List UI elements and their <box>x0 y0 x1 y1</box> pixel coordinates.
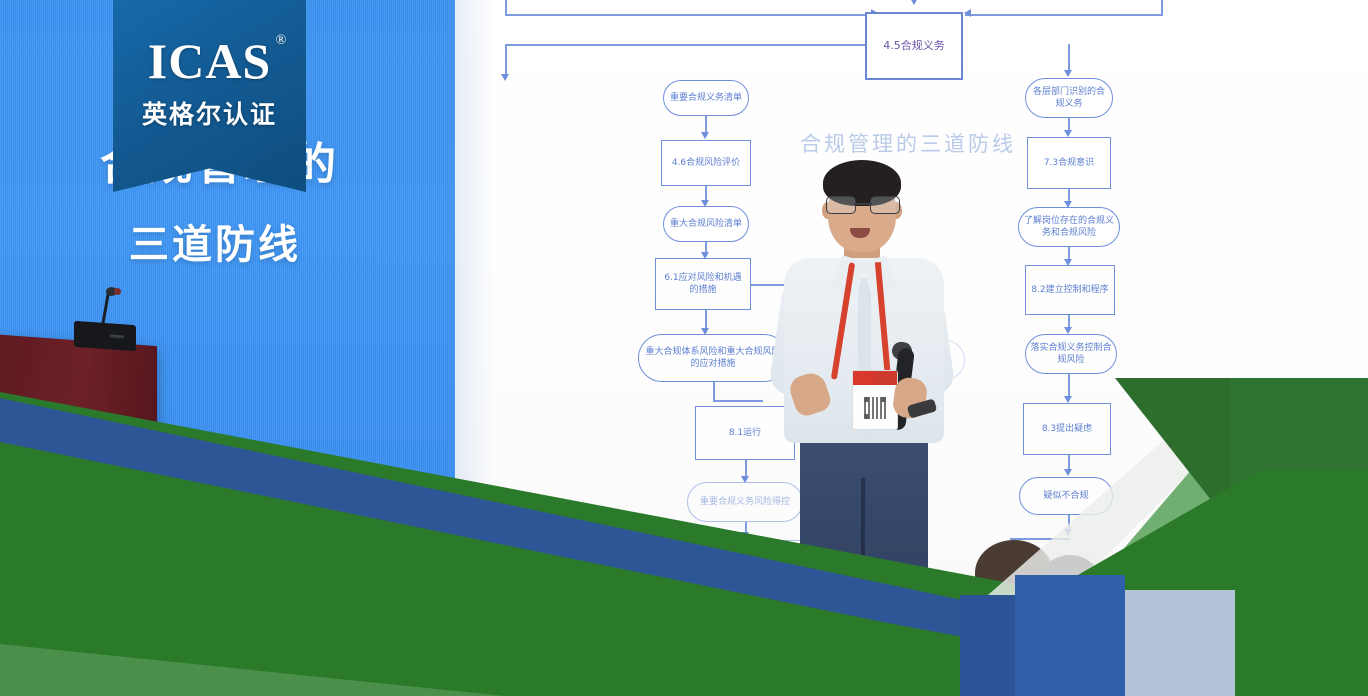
flow-node-8-3[interactable]: 8.3提出疑虑 <box>1023 403 1111 455</box>
flow-line <box>505 44 507 78</box>
flow-node-department-obligations[interactable]: 各层部门识别的合规义务 <box>1025 78 1113 118</box>
icas-wordmark: ICAS ® <box>148 36 271 86</box>
overlay-grey-bottom-right <box>1125 590 1235 696</box>
flow-node-6-1[interactable]: 6.1应对风险和机遇的措施 <box>655 258 751 310</box>
flow-node-post-obligations[interactable]: 了解岗位存在的合规义务和合规风险 <box>1018 207 1120 247</box>
flow-line <box>505 44 865 46</box>
flow-node-important-obligation-list[interactable]: 重要合规义务清单 <box>663 80 749 116</box>
flow-arrow-down-icon <box>910 0 918 5</box>
speaker-badge <box>852 370 898 430</box>
podium-microphone-base <box>74 321 136 351</box>
eyeglasses-icon <box>826 196 900 212</box>
flow-line <box>505 14 877 16</box>
flow-arrow-left-icon <box>964 9 971 17</box>
flow-line <box>1161 0 1163 16</box>
screenshot-stage: 合规管理的 三道防线 ICAS ® 英格尔认证 合规管理的三道防线 4.5合规义… <box>0 0 1368 696</box>
flow-line <box>713 400 763 402</box>
flow-arrow-down-icon <box>1064 70 1072 77</box>
flow-node-8-2[interactable]: 8.2建立控制和程序 <box>1025 265 1115 315</box>
flow-node-4-6[interactable]: 4.6合规风险评价 <box>661 140 751 186</box>
badge-header-strip <box>853 371 897 385</box>
podium-microphone-tip-icon <box>114 288 121 295</box>
flow-line <box>713 382 715 400</box>
flow-node-major-measures[interactable]: 重大合规体系风险和重大合规风险的应对措施 <box>638 334 788 382</box>
flow-line <box>965 14 1161 16</box>
icas-logo-banner: ICAS ® 英格尔认证 <box>113 0 306 192</box>
flow-line <box>505 0 507 16</box>
flow-arrow-down-icon <box>1064 469 1072 476</box>
flow-arrow-down-icon <box>1064 327 1072 334</box>
flow-arrow-down-icon <box>501 74 509 81</box>
flow-arrow-down-icon <box>1064 396 1072 403</box>
flow-node-4-5[interactable]: 4.5合规义务 <box>865 12 963 80</box>
qr-code-icon <box>864 397 886 419</box>
icas-chinese-name: 英格尔认证 <box>142 95 277 131</box>
flow-node-major-risk-list[interactable]: 重大合规风险清单 <box>663 206 749 242</box>
flow-node-implement-control[interactable]: 落实合规义务控制合规风险 <box>1025 334 1117 374</box>
slide-title-line2: 三道防线 <box>129 212 301 270</box>
registered-trademark-icon: ® <box>276 34 288 48</box>
icas-wordmark-text: ICAS <box>148 33 271 89</box>
flow-arrow-down-icon <box>1064 130 1072 137</box>
flow-node-7-3[interactable]: 7.3合规意识 <box>1027 137 1111 189</box>
flow-arrow-down-icon <box>701 132 709 139</box>
overlay-blue-bottom-right <box>1015 575 1125 696</box>
